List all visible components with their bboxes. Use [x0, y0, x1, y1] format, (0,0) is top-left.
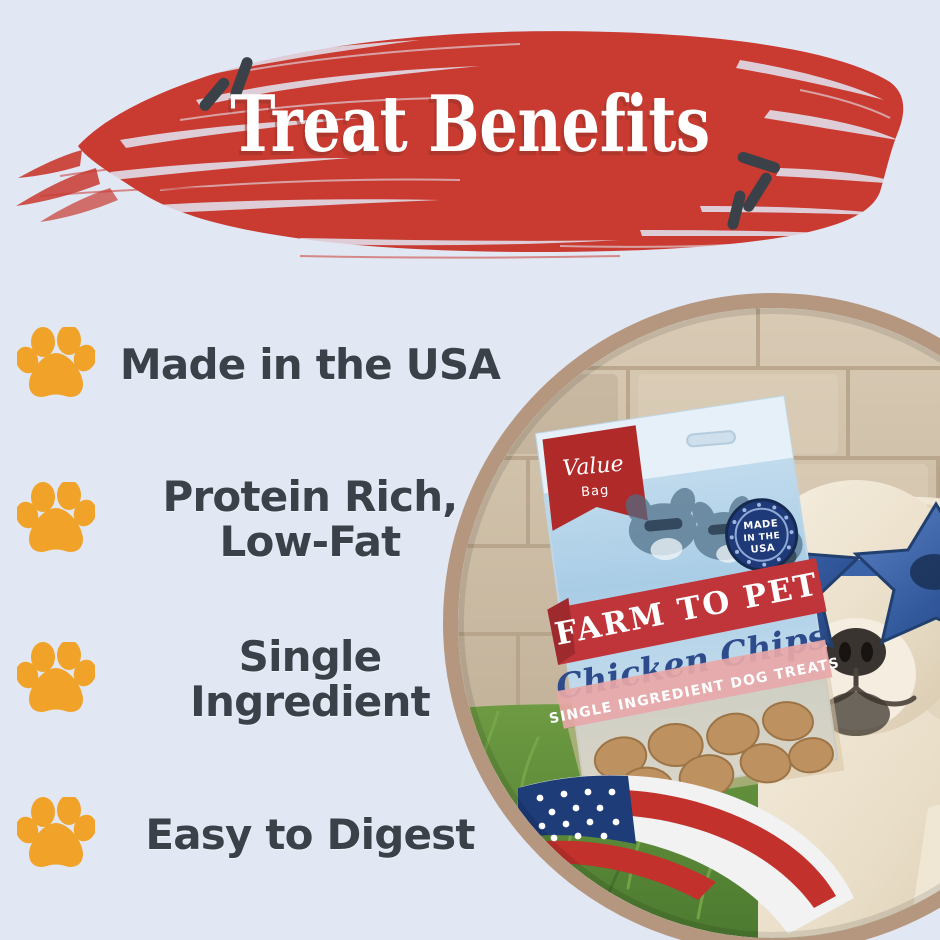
page-title: Treat Benefits — [103, 86, 836, 164]
paw-print-icon — [17, 642, 95, 718]
package-value-label: Value — [561, 452, 624, 482]
paw-print-icon — [17, 482, 95, 558]
benefit-label: Made in the USA — [112, 343, 520, 388]
package-bag-label: Bag — [581, 483, 610, 500]
paw-print-icon — [17, 327, 95, 403]
benefit-line-1: Made in the USA — [120, 340, 500, 389]
benefit-item-easy-to-digest: Easy to Digest — [0, 760, 520, 910]
benefit-item-protein-rich: Protein Rich, Low-Fat — [0, 440, 520, 600]
benefits-list: Made in the USA Protein Rich, Low-Fat — [0, 290, 520, 910]
benefit-label: Single Ingredient — [112, 635, 520, 725]
benefit-line-2: Low-Fat — [112, 520, 508, 565]
benefit-line-1: Single — [239, 632, 382, 681]
seal-line-3: USA — [750, 543, 775, 556]
benefit-item-single-ingredient: Single Ingredient — [0, 600, 520, 760]
benefit-item-made-in-usa: Made in the USA — [0, 290, 520, 440]
paw-cell — [0, 797, 112, 873]
benefit-line-2: Ingredient — [112, 680, 508, 725]
benefit-label: Easy to Digest — [112, 813, 520, 858]
paw-cell — [0, 642, 112, 718]
benefit-line-1: Easy to Digest — [145, 810, 474, 859]
product-photo: Value Bag — [458, 308, 940, 938]
benefit-line-1: Protein Rich, — [163, 472, 458, 521]
treat-benefits-infographic: Treat Benefits — [0, 0, 940, 940]
paw-cell — [0, 327, 112, 403]
paw-cell — [0, 482, 112, 558]
header-banner: Treat Benefits — [0, 0, 940, 280]
benefit-label: Protein Rich, Low-Fat — [112, 475, 520, 565]
paw-print-icon — [17, 797, 95, 873]
product-photo-illustration: Value Bag — [458, 308, 940, 938]
